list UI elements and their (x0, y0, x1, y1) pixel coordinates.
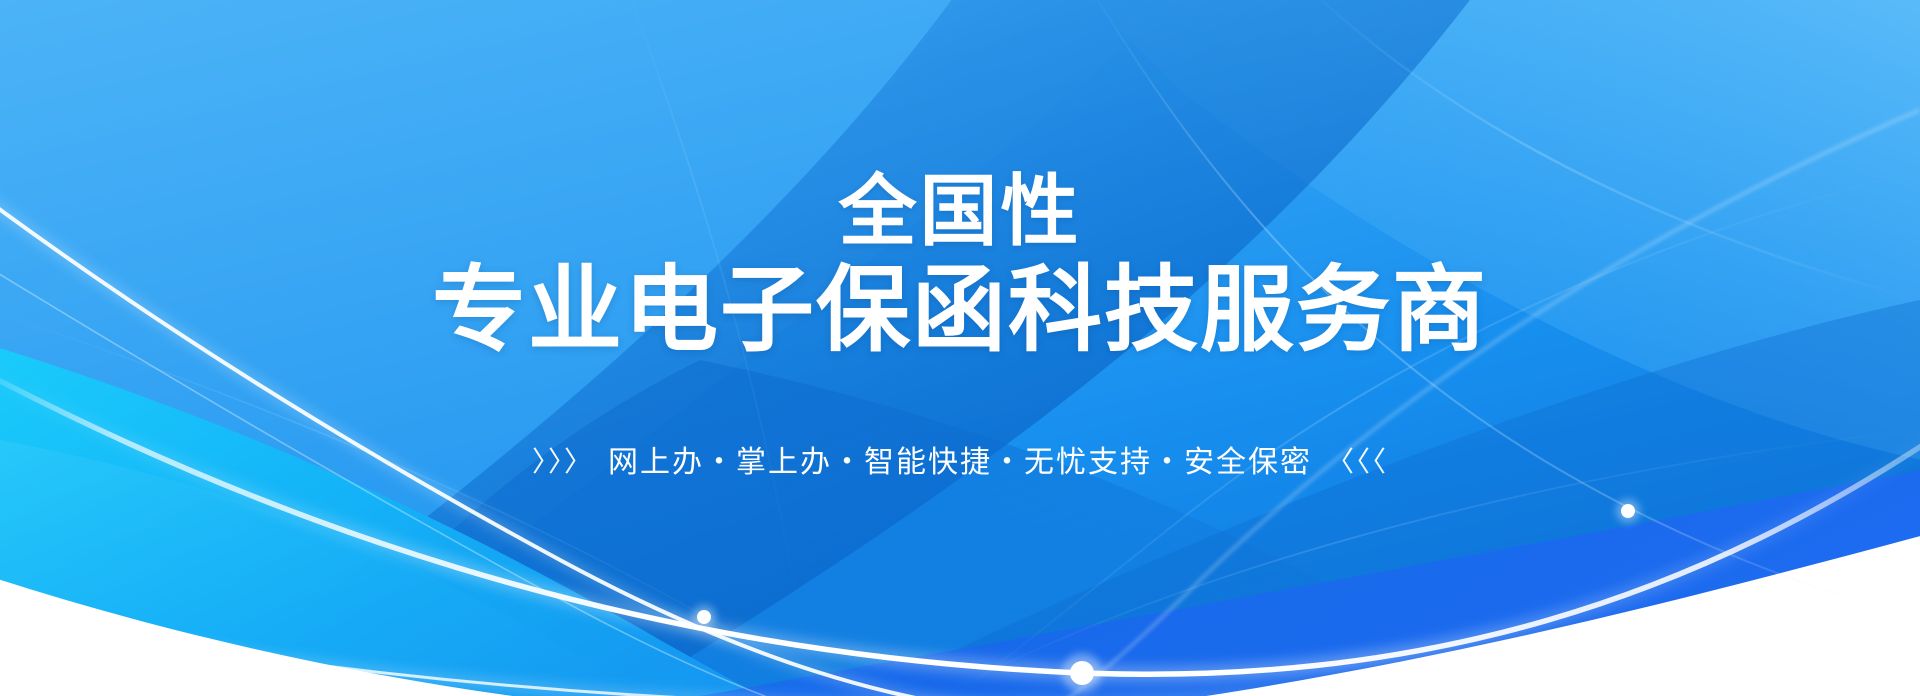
banner-background-art (0, 0, 1920, 696)
swoosh-dot (697, 610, 711, 624)
hero-banner: 全国性 专业电子保函科技服务商 〉〉〉 网上办・掌上办・智能快捷・无忧支持・安全… (0, 0, 1920, 696)
swoosh-dot (1555, 640, 1571, 656)
swoosh-dot (1621, 504, 1635, 518)
swoosh-dot (1070, 661, 1094, 685)
